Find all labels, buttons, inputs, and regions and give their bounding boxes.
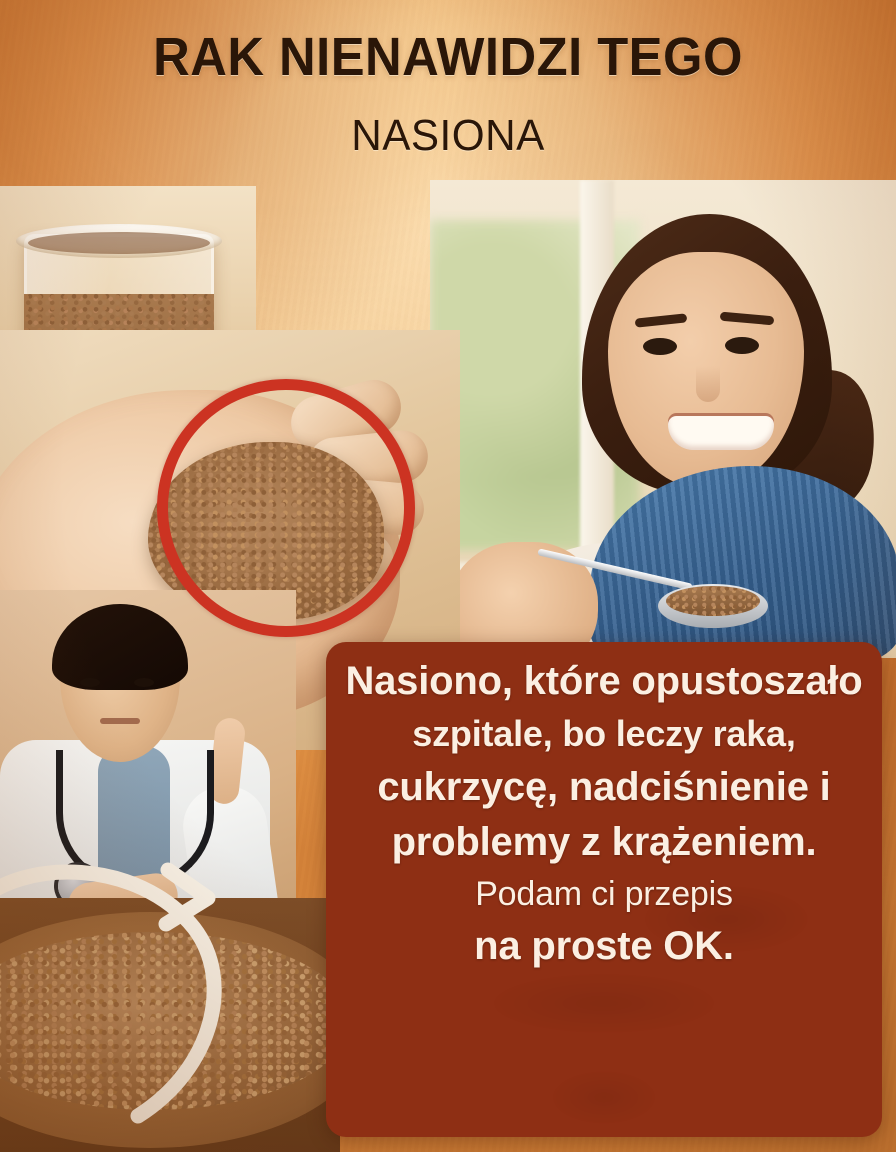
message-line-2: szpitale, bo leczy raka, [340, 715, 868, 754]
headline-block: RAK NIENAWIDZI TEGO NASIONA [0, 30, 896, 161]
poster-headline: RAK NIENAWIDZI TEGO [27, 30, 869, 85]
poster-canvas: RAK NIENAWIDZI TEGO NASIONA Nasiono, któ… [0, 0, 896, 1152]
poster-subheadline: NASIONA [18, 111, 878, 161]
message-line-1: Nasiono, które opustoszało [340, 660, 868, 703]
message-line-3: cukrzycę, nadciśnienie i [340, 766, 868, 809]
message-line-4: problemy z krążeniem. [340, 821, 868, 864]
message-text-block: Nasiono, które opustoszało szpitale, bo … [326, 642, 882, 968]
message-line-5: Podam ci przepis [340, 876, 868, 913]
message-line-6: na proste OK. [340, 925, 868, 968]
message-card: Nasiono, które opustoszało szpitale, bo … [326, 642, 882, 1137]
